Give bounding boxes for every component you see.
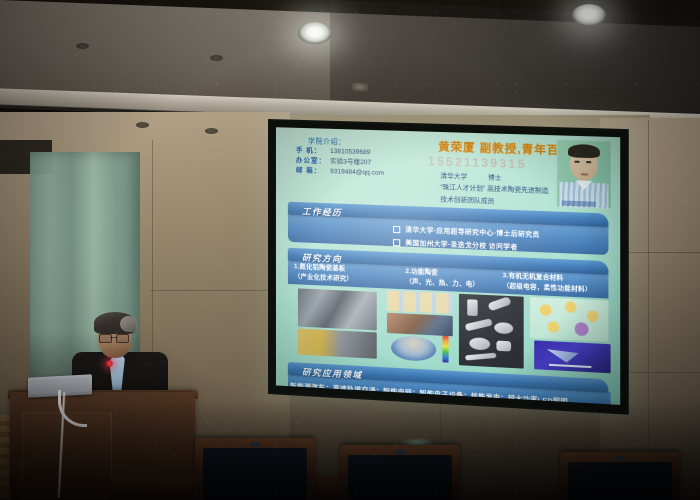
lapel-mic-led [106,360,113,367]
ceiling-vent-icon [136,122,149,128]
downlight-icon [572,4,606,26]
slide-image-gallery [290,286,613,375]
gallery-image-simulation [391,335,436,362]
portrait-eye-left [574,161,579,163]
ceiling-vent-icon [210,55,223,61]
subinfo-university: 清华大学 [440,173,467,181]
ceiling-shadow [330,0,700,117]
contact-label-email: 邮 箱： [296,166,330,177]
gallery-image-ceramics-array [387,290,453,313]
gallery-image-ceramic-substrate [298,288,377,330]
subinfo-degree: 博士 [488,174,502,182]
lecture-hall-photo: 学院介绍： 手 机： 13810539689 办公室： 实验3号楼207 邮 箱… [0,0,700,500]
contact-block: 学院介绍： 手 机： 13810539689 办公室： 实验3号楼207 邮 箱… [290,136,427,181]
projection-screen-frame: 学院介绍： 手 机： 13810539689 办公室： 实验3号楼207 邮 箱… [268,119,629,415]
portrait-photo [556,139,611,209]
glasses-icon [99,334,129,341]
slide-watermark: 15521139315 [428,154,527,171]
portrait-mouth [581,173,588,175]
lower-room-shadow [0,400,700,500]
downlight-icon [298,22,332,44]
ceiling-vent-icon [205,128,218,134]
experience-item-text: 美国加州大学-圣迭戈分校 访问学者 [405,240,517,252]
gallery-image-components-photo [459,294,524,369]
bullet-square-icon [393,226,400,233]
portrait-eye-right [586,161,591,163]
gallery-image-flexible-material [534,340,610,373]
presentation-slide: 学院介绍： 手 机： 13810539689 办公室： 实验3号楼207 邮 箱… [276,127,620,405]
gallery-image-layered-sample [387,313,453,337]
bullet-square-icon [393,239,400,246]
contact-value-email: 9319484@qq.com [330,167,384,179]
research-column: 1.氮化铝陶瓷基板 （产业化技术研究） [294,262,390,287]
gallery-image-package-diagram [298,329,377,359]
portrait-hair [568,144,600,158]
soffit-fixture-icon [352,83,368,92]
gallery-image-molecular-diagram [530,297,608,342]
section-title-experience: 工作经历 [302,205,342,219]
projection-screen: 学院介绍： 手 机： 13810539689 办公室： 实验3号楼207 邮 箱… [276,127,620,405]
speaker-hair-highlight [120,316,137,332]
ceiling-vent-icon [76,43,89,49]
gallery-colormap-legend [442,336,448,363]
